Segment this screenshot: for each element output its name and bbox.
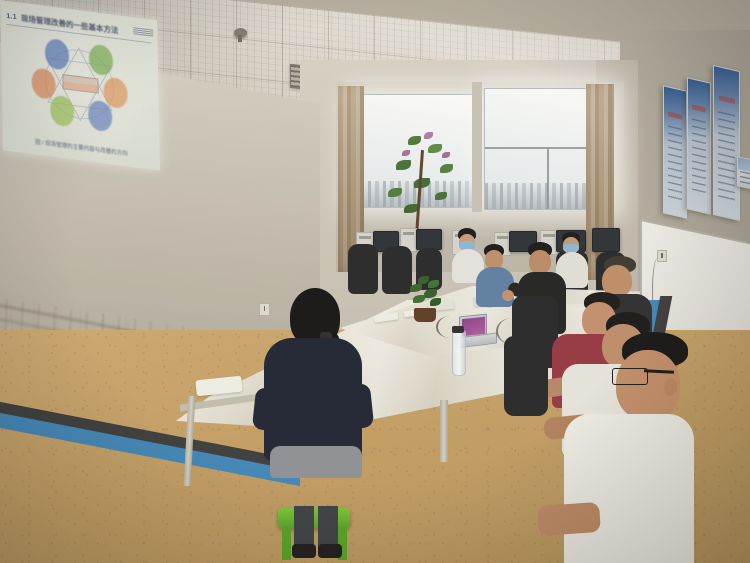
poster-text-lines xyxy=(668,125,683,202)
computer-monitor xyxy=(592,228,620,252)
plant-leaf xyxy=(428,280,439,288)
plant-leaf xyxy=(424,289,437,298)
tree-leaf xyxy=(440,164,453,173)
tree-leaf xyxy=(408,136,421,145)
tree-blossom xyxy=(424,132,433,139)
office-chair xyxy=(504,336,548,416)
tree-trunk xyxy=(415,150,424,236)
hand xyxy=(502,290,514,301)
poster-title-band xyxy=(668,111,682,119)
shoe xyxy=(292,544,316,558)
slide-number: 1.1 xyxy=(6,12,17,20)
plant-pot xyxy=(414,308,436,322)
shoe xyxy=(318,544,342,558)
indoor-tree xyxy=(380,130,490,240)
torso xyxy=(564,414,694,563)
poster-text-lines xyxy=(718,111,735,201)
poster-title-band xyxy=(719,95,735,104)
green-stool xyxy=(278,508,350,528)
torso xyxy=(264,338,362,460)
cable xyxy=(436,316,464,338)
smoke-detector-icon xyxy=(234,28,247,37)
table-leg xyxy=(440,400,448,462)
head xyxy=(529,250,551,274)
potted-plant xyxy=(406,276,446,310)
plant-leaf xyxy=(410,284,422,292)
eyeglasses-icon xyxy=(612,368,648,385)
ear xyxy=(664,378,677,396)
poster-panel-2 xyxy=(687,77,711,215)
office-chair xyxy=(348,244,378,294)
poster-small xyxy=(737,156,750,190)
arm xyxy=(348,383,374,429)
jeans xyxy=(270,446,362,478)
tree-leaf xyxy=(428,144,442,153)
power-outlet-icon xyxy=(259,303,270,316)
plant-leaf xyxy=(413,295,425,303)
computer-monitor xyxy=(416,229,442,250)
tree-leaf xyxy=(388,188,402,197)
poster-text-lines xyxy=(692,118,707,197)
arm xyxy=(537,502,601,536)
tree-leaf xyxy=(414,178,430,188)
plant-leaf xyxy=(430,298,441,306)
poster-title-band xyxy=(692,104,706,112)
poster-panel-1 xyxy=(663,85,687,219)
tree-blossom xyxy=(402,150,410,156)
tree-blossom xyxy=(442,152,450,158)
stool-leg xyxy=(282,526,291,560)
projected-slide: 1.1 现场管理改善的一些基本方法 图 / 现场管理的主要内容与改善的方向 xyxy=(0,0,160,171)
slide-diagram xyxy=(31,34,129,135)
poster-panel-3 xyxy=(713,65,740,221)
meeting-room-photo: 1.1 现场管理改善的一些基本方法 图 / 现场管理的主要内容与改善的方向 xyxy=(0,0,750,563)
tree-leaf xyxy=(396,160,411,170)
tree-leaf xyxy=(435,192,447,200)
poster-small-text xyxy=(740,171,750,185)
